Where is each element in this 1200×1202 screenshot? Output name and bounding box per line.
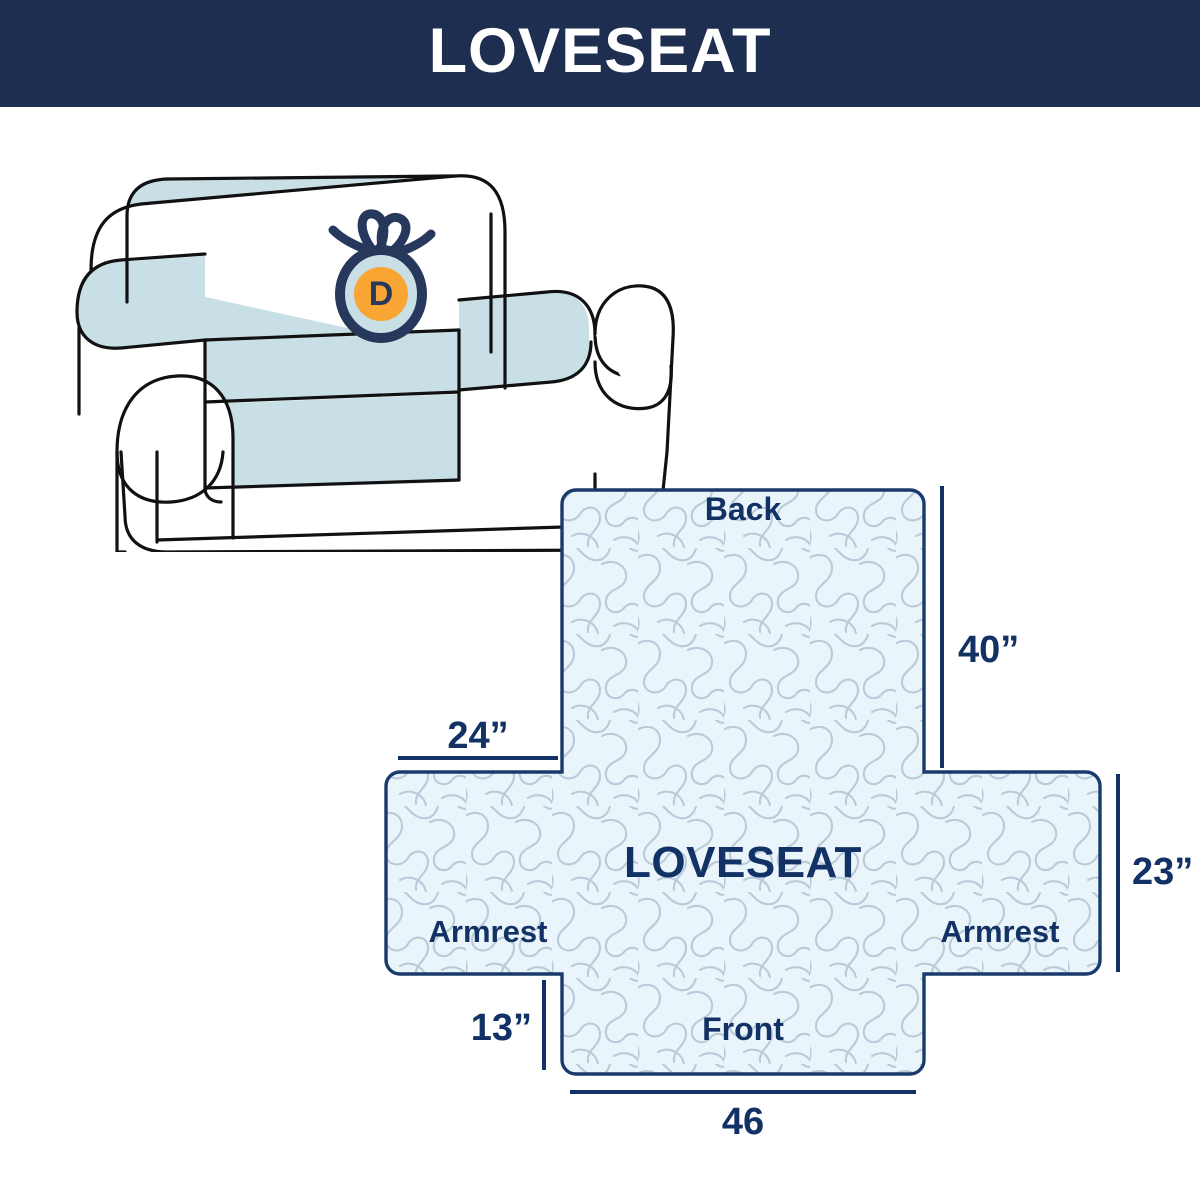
panel-label-armrest-left: Armrest <box>429 914 548 949</box>
sofa-left-arm-fabric <box>77 256 205 348</box>
loveseat-cover-layout: Back LOVESEAT Armrest Armrest Front 40” … <box>380 462 1200 1202</box>
cover-center-label: LOVESEAT <box>624 838 862 887</box>
sofa-seat-top-fabric <box>205 330 459 402</box>
illustration-stage: D <box>0 107 1200 1200</box>
header-bar: LOVESEAT <box>0 0 1200 107</box>
panel-label-front: Front <box>702 1011 784 1047</box>
dimension-value-armrest-height: 23” <box>1132 851 1193 893</box>
panel-label-back: Back <box>705 491 782 527</box>
sofa-right-arm-fabric <box>459 292 589 390</box>
page-title: LOVESEAT <box>429 20 772 87</box>
dimension-value-overall-width: 46 <box>722 1101 764 1143</box>
cover-quilted-fill <box>386 490 1100 1074</box>
dimension-value-front-drop: 13” <box>471 1007 532 1049</box>
dimension-value-flap-width: 24” <box>447 715 508 757</box>
dimension-value-back-height: 40” <box>958 629 1019 671</box>
panel-label-armrest-right: Armrest <box>941 914 1060 949</box>
logo-letter: D <box>369 275 394 313</box>
